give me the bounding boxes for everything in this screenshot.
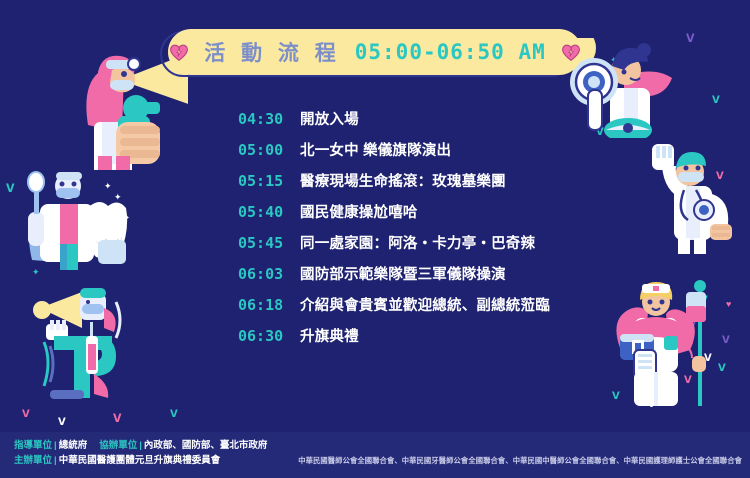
check-mark-decoration: ᐯ <box>113 414 122 425</box>
schedule-row: 05:45同一處家園：阿洛・卡力亭・巴奇辣 <box>238 232 568 263</box>
schedule-row: 05:15醫療現場生命搖滾：玫瑰墓樂團 <box>238 170 568 201</box>
schedule-row-time: 05:00 <box>238 141 300 159</box>
schedule-row: 06:30升旗典禮 <box>238 325 568 356</box>
footer-separator: | <box>52 440 59 451</box>
poster-root: ᐯ ᐯ ᐯ ᐯ ᐯ ✦ ✦ ᐯ ᐯ ᐯ ᐯ ᐯ ♥ ᐯ ᐯ ᐯ ᐯ ᐯ ᐯ ᐯ … <box>0 0 750 478</box>
schedule-row-label: 開放入場 <box>300 108 359 129</box>
schedule-row-time: 05:40 <box>238 203 300 221</box>
dentist-with-tooth: ✦ ✦ <box>14 160 130 270</box>
schedule-row-label: 國民健康操尬嘻哈 <box>300 201 418 222</box>
doctor-with-stethoscope-head <box>566 38 686 138</box>
check-mark-decoration: ᐯ <box>22 410 30 420</box>
footer-label: 主辦單位 <box>14 455 52 466</box>
check-mark-decoration: ᐯ <box>170 410 178 420</box>
footer-organizers: 指導單位|總統府協辦單位|內政部、國防部、臺北市政府主辦單位|中華民國醫護團體元… <box>14 438 267 468</box>
surgeon-with-syringe <box>24 278 144 403</box>
banner-title: 活 動 流 程 <box>204 37 341 67</box>
schedule-row-time: 06:03 <box>238 265 300 283</box>
event-schedule-banner: 活 動 流 程 05:00-06:50 AM <box>168 29 582 75</box>
footer-separator: | <box>52 455 59 466</box>
schedule-row-time: 05:15 <box>238 172 300 190</box>
schedule-row-time: 04:30 <box>238 110 300 128</box>
svg-text:✦: ✦ <box>124 214 130 222</box>
check-mark-decoration: ᐯ <box>686 34 695 45</box>
schedule-row-label: 升旗典禮 <box>300 325 359 346</box>
check-mark-decoration: ᐯ <box>712 96 720 106</box>
footer-label: 協辦單位 <box>99 440 137 451</box>
schedule-row-label: 同一處家園：阿洛・卡力亭・巴奇辣 <box>300 232 535 253</box>
schedule-row: 05:40國民健康操尬嘻哈 <box>238 201 568 232</box>
doctor-waving <box>638 138 742 254</box>
broken-heart-bolt-icon <box>560 41 582 63</box>
schedule-row: 05:00北一女中 樂儀旗隊演出 <box>238 139 568 170</box>
schedule-row-label: 介紹與會貴賓並歡迎總統、副總統蒞臨 <box>300 294 550 315</box>
footer-separator: | <box>137 440 144 451</box>
schedule-row: 06:18介紹與會貴賓並歡迎總統、副總統蒞臨 <box>238 294 568 325</box>
schedule-row-time: 06:18 <box>238 296 300 314</box>
footer-value: 內政部、國防部、臺北市政府 <box>144 440 268 451</box>
footer-label: 指導單位 <box>14 440 52 451</box>
schedule-row: 04:30開放入場 <box>238 108 568 139</box>
schedule-row: 06:03國防部示範樂隊暨三軍儀隊操演 <box>238 263 568 294</box>
broken-heart-bolt-icon <box>168 41 190 63</box>
footer-value: 中華民國醫護團體元旦升旗典禮委員會 <box>59 455 221 466</box>
schedule-row-label: 北一女中 樂儀旗隊演出 <box>300 139 451 160</box>
check-mark-decoration: ᐯ <box>58 418 66 428</box>
schedule-row-label: 國防部示範樂隊暨三軍儀隊操演 <box>300 263 506 284</box>
footer-line: 主辦單位|中華民國醫護團體元旦升旗典禮委員會 <box>14 453 267 468</box>
footer-associations: 中華民國醫師公會全國聯合會、中華民國牙醫師公會全國聯合會、中華民國中醫師公會全國… <box>298 456 742 466</box>
footer-line: 指導單位|總統府協辦單位|內政部、國防部、臺北市政府 <box>14 438 267 453</box>
banner-time-range: 05:00-06:50 AM <box>355 40 546 64</box>
schedule-row-label: 醫療現場生命搖滾：玫瑰墓樂團 <box>300 170 506 191</box>
svg-text:✦: ✦ <box>114 192 122 202</box>
footer-value: 總統府 <box>59 440 88 451</box>
schedule-list: 04:30開放入場05:00北一女中 樂儀旗隊演出05:15醫療現場生命搖滾：玫… <box>238 108 568 356</box>
schedule-row-time: 06:30 <box>238 327 300 345</box>
nurse-with-iv-stand <box>598 278 728 408</box>
schedule-row-time: 05:45 <box>238 234 300 252</box>
